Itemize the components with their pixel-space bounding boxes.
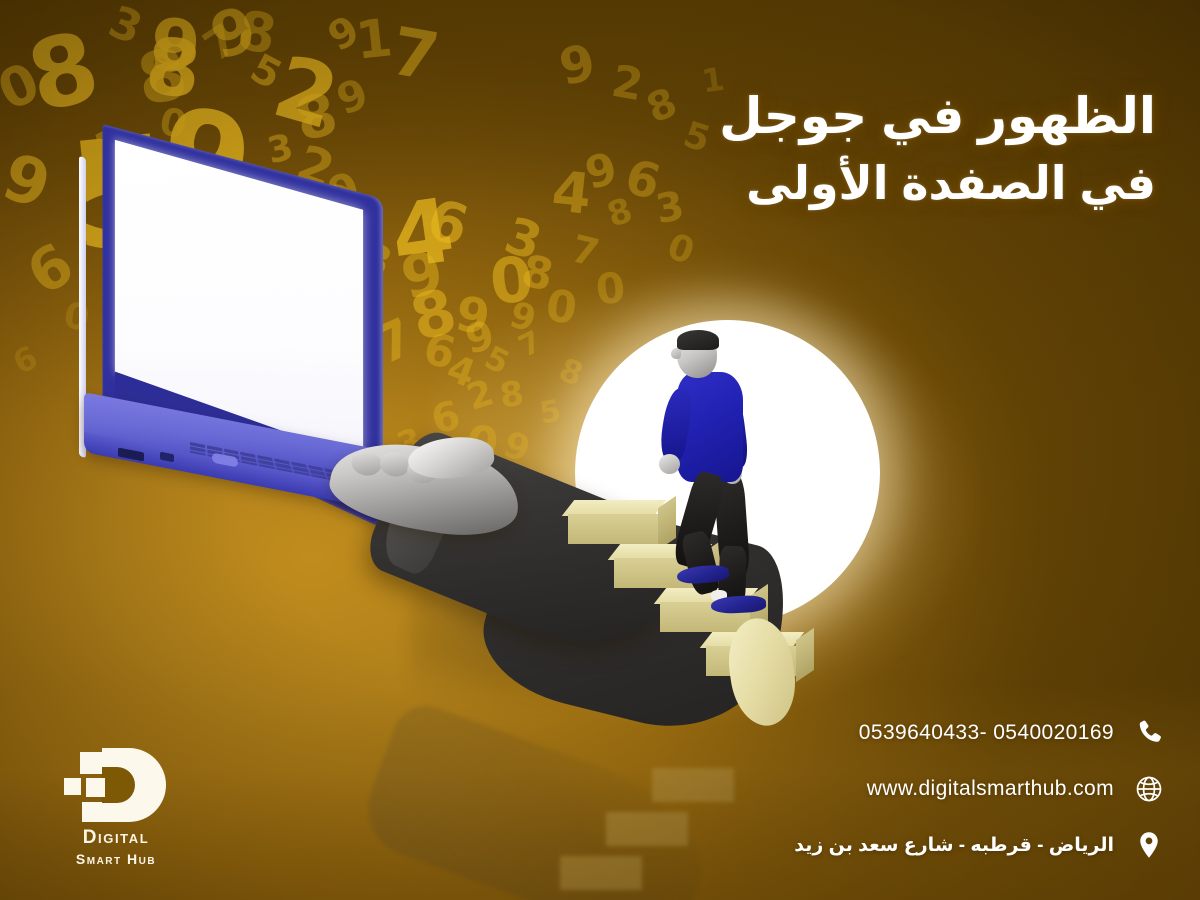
contact-row-website[interactable]: www.digitalsmarthub.com — [766, 772, 1166, 806]
phone-numbers-text: 0539640433- 0540020169 — [859, 721, 1114, 745]
logo-pixel-square — [82, 802, 102, 822]
logo-name-line-2: Smart Hub — [36, 851, 196, 867]
contact-block: 0539640433- 0540020169 www.digitalsmarth… — [766, 716, 1166, 862]
logo-d-mark — [64, 748, 168, 822]
hand-knuckle — [350, 449, 384, 478]
logo-pixel-square — [86, 778, 105, 797]
logo-name-line-1: Digital — [36, 827, 196, 849]
logo-pixel-square — [80, 752, 102, 774]
man-climbing-stairs — [655, 332, 785, 622]
hand-knuckle — [378, 450, 412, 479]
location-icon — [1132, 828, 1166, 862]
contact-row-address[interactable]: الرياض - قرطبه - شارع سعد بن زيد — [766, 828, 1166, 862]
headline-line-2: في الصفدة الأولى — [719, 154, 1156, 213]
headline-line-1: الظهور في جوجل — [719, 88, 1156, 144]
contact-row-phone[interactable]: 0539640433- 0540020169 — [766, 716, 1166, 750]
phone-icon — [1132, 716, 1166, 750]
company-logo: Digital Smart Hub — [36, 748, 196, 868]
poster-canvas: 8959096283989825364082957098170460893088… — [0, 0, 1200, 900]
headline: الظهور في جوجل في الصفدة الأولى — [719, 88, 1156, 213]
man-front-shin — [680, 530, 722, 597]
logo-pixel-square — [64, 778, 81, 795]
address-text: الرياض - قرطبه - شارع سعد بن زيد — [794, 834, 1114, 857]
stair-riser — [568, 514, 660, 544]
man-front-fist — [659, 454, 680, 474]
website-url-text: www.digitalsmarthub.com — [867, 777, 1114, 801]
globe-icon — [1132, 772, 1166, 806]
logo-d-arc — [102, 748, 166, 822]
man-nose — [671, 348, 681, 359]
man-hair — [677, 330, 719, 350]
